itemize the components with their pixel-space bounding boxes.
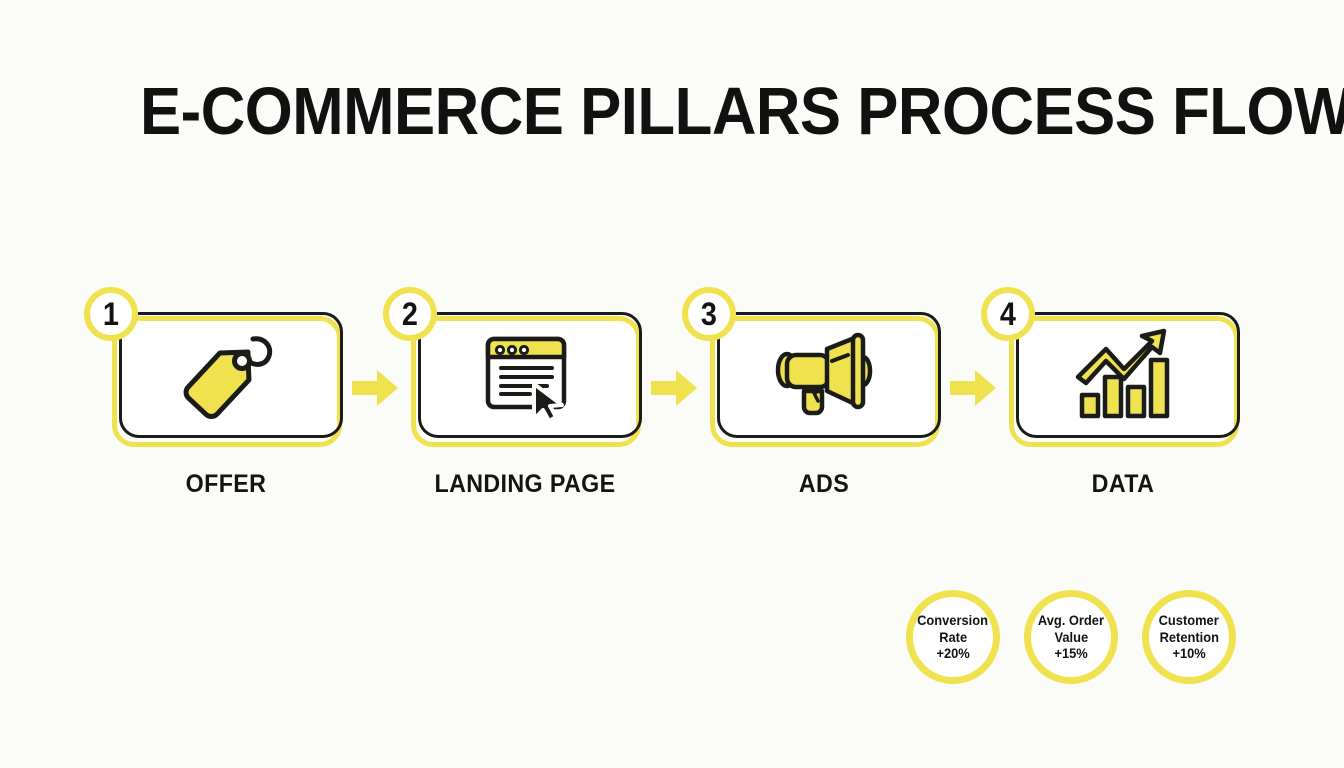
megaphone-icon xyxy=(770,329,880,421)
step-label-1: OFFER xyxy=(120,470,332,499)
price-tag-icon xyxy=(175,327,279,423)
connector-arrow-1 xyxy=(352,368,398,408)
step-label-2: LANDING PAGE xyxy=(419,470,631,499)
kpi-label-line-2: Rate xyxy=(939,629,967,646)
process-step-1[interactable]: 1 OFFER xyxy=(112,312,340,499)
step-number-1: 1 xyxy=(103,298,119,330)
step-number-3: 3 xyxy=(701,298,717,330)
process-step-4[interactable]: 4 DATA xyxy=(1009,312,1237,499)
kpi-label-line-2: Retention xyxy=(1159,629,1218,646)
process-step-2[interactable]: 2 LANDING PAGE xyxy=(411,312,639,499)
kpi-metrics-row: Conversion Rate +20% Avg. Order Value +1… xyxy=(906,590,1236,684)
bar-chart-growth-arrow-icon xyxy=(1072,327,1176,423)
kpi-customer-retention: Customer Retention +10% xyxy=(1142,590,1236,684)
browser-window-cursor-icon xyxy=(474,329,578,421)
kpi-label-line-1: Conversion xyxy=(918,612,989,629)
arrow-right-icon xyxy=(950,368,996,408)
arrow-right-icon xyxy=(651,368,697,408)
step-card-icon-area xyxy=(120,316,334,434)
process-step-3[interactable]: 3 ADS xyxy=(710,312,938,499)
kpi-label-line-1: Customer xyxy=(1159,612,1219,629)
step-card-1[interactable]: 1 xyxy=(112,312,340,441)
step-card-icon-area xyxy=(419,316,633,434)
step-badge-1: 1 xyxy=(84,287,138,341)
kpi-avg-order-value: Avg. Order Value +15% xyxy=(1024,590,1118,684)
infographic-canvas: E-COMMERCE PILLARS PROCESS FLOW 1 OFFER xyxy=(0,0,1344,768)
kpi-value: +20% xyxy=(936,645,969,662)
step-card-icon-area xyxy=(1017,316,1231,434)
kpi-value: +15% xyxy=(1054,645,1087,662)
step-label-4: DATA xyxy=(1017,470,1229,499)
step-number-2: 2 xyxy=(402,298,418,330)
step-card-icon-area xyxy=(718,316,932,434)
step-card-2[interactable]: 2 xyxy=(411,312,639,441)
step-badge-2: 2 xyxy=(383,287,437,341)
step-card-3[interactable]: 3 xyxy=(710,312,938,441)
kpi-label-line-1: Avg. Order xyxy=(1038,612,1104,629)
step-label-3: ADS xyxy=(718,470,930,499)
kpi-value: +10% xyxy=(1172,645,1205,662)
step-card-4[interactable]: 4 xyxy=(1009,312,1237,441)
connector-arrow-2 xyxy=(651,368,697,408)
step-badge-3: 3 xyxy=(682,287,736,341)
arrow-right-icon xyxy=(352,368,398,408)
step-badge-4: 4 xyxy=(981,287,1035,341)
step-number-4: 4 xyxy=(1000,298,1016,330)
connector-arrow-3 xyxy=(950,368,996,408)
kpi-label-line-2: Value xyxy=(1054,629,1088,646)
kpi-conversion-rate: Conversion Rate +20% xyxy=(906,590,1000,684)
